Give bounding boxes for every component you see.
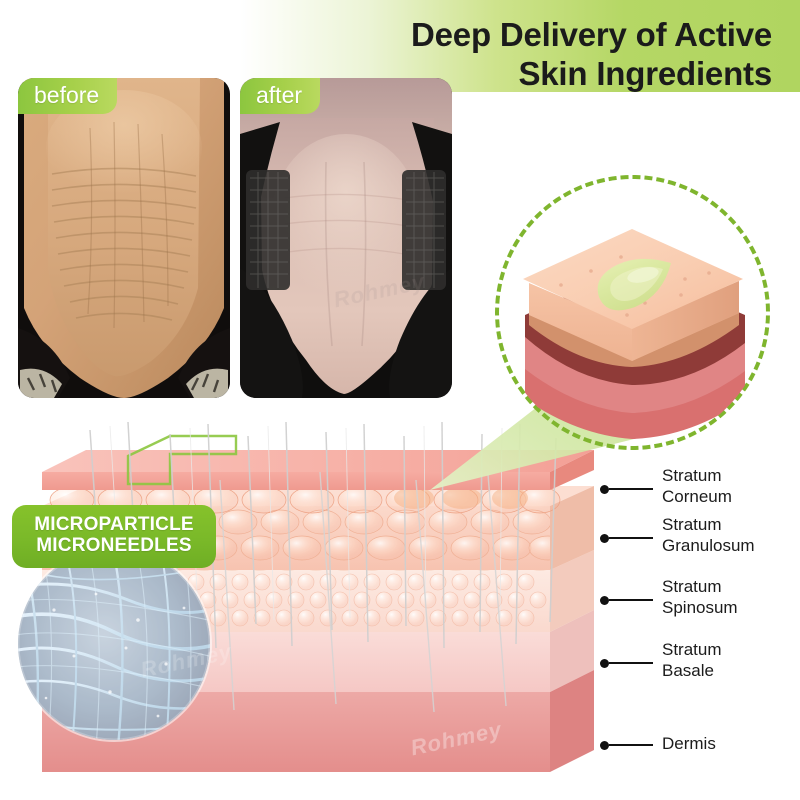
callout-label: Stratum Spinosum xyxy=(662,576,738,619)
before-label-badge: before xyxy=(18,78,117,114)
callout-leader-line xyxy=(609,662,653,664)
callout-stratum-spinosum: Stratum Spinosum xyxy=(600,599,653,601)
callout-dot xyxy=(600,596,609,605)
after-photo: after xyxy=(240,78,452,398)
microneedle-microscopy-inset xyxy=(18,548,210,740)
callout-leader-line xyxy=(609,537,653,539)
infographic-canvas: Deep Delivery of Active Skin Ingredients xyxy=(0,0,800,800)
callout-leader-line xyxy=(609,744,653,746)
before-photo-image xyxy=(18,78,230,398)
skin-block-inset xyxy=(495,175,770,450)
callout-dot xyxy=(600,534,609,543)
callout-label: Stratum Corneum xyxy=(662,465,732,508)
callout-label: Stratum Granulosum xyxy=(662,514,755,557)
skin-block-illustration xyxy=(495,175,770,450)
before-photo: before xyxy=(18,78,230,398)
callout-dot xyxy=(600,741,609,750)
callout-dermis: Dermis xyxy=(600,744,653,746)
after-photo-image xyxy=(240,78,452,398)
callout-dot xyxy=(600,485,609,494)
microscopy-image xyxy=(18,548,210,740)
page-title-line-1: Deep Delivery of Active xyxy=(411,16,772,53)
callout-stratum-basale: Stratum Basale xyxy=(600,662,653,664)
callout-leader-line xyxy=(609,488,653,490)
badge-line-1: MICROPARTICLE xyxy=(34,514,194,535)
badge-line-2: MICRONEEDLES xyxy=(36,535,191,556)
after-label-badge: after xyxy=(240,78,320,114)
microparticle-microneedles-badge: MICROPARTICLE MICRONEEDLES xyxy=(12,505,216,568)
callout-dot xyxy=(600,659,609,668)
callout-label: Stratum Basale xyxy=(662,639,722,682)
callout-stratum-corneum: Stratum Corneum xyxy=(600,488,653,490)
callout-leader-line xyxy=(609,599,653,601)
callout-label: Dermis xyxy=(662,733,716,754)
callout-stratum-granulosum: Stratum Granulosum xyxy=(600,537,653,539)
